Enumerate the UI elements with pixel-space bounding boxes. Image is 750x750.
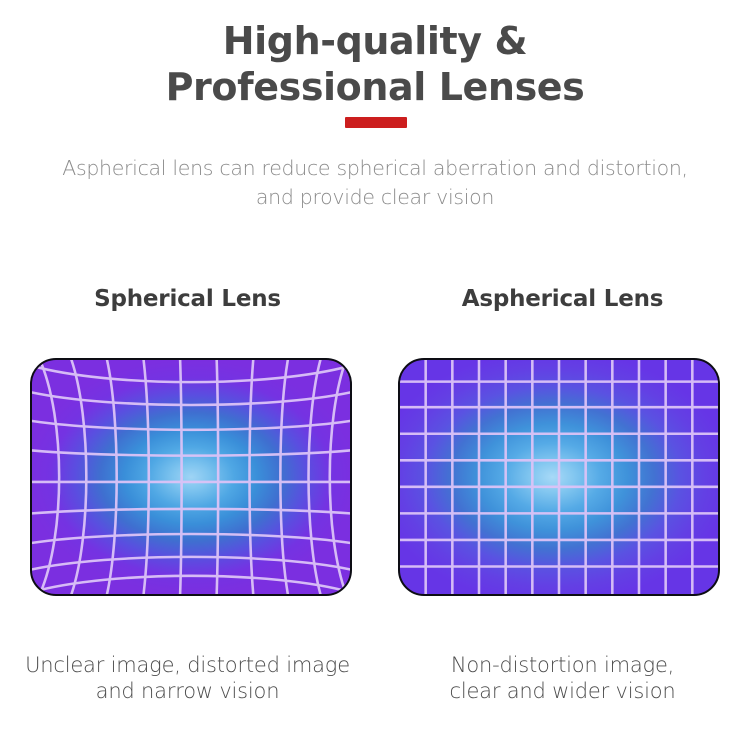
spherical-lens-grid-icon [32, 360, 350, 594]
spherical-lens-image [30, 358, 352, 596]
page-title-line-2: Professional Lenses [0, 64, 750, 110]
aspherical-lens-image [398, 358, 720, 596]
caption-spherical-line-1: Unclear image, distorted image [0, 652, 375, 678]
page-subtitle-line-1: Aspherical lens can reduce spherical abe… [0, 154, 750, 183]
caption-spherical-line-2: and narrow vision [0, 678, 375, 704]
caption-spherical-lens: Unclear image, distorted image and narro… [0, 652, 375, 705]
page-subtitle-line-2: and provide clear vision [0, 183, 750, 212]
caption-aspherical-lens: Non-distortion image, clear and wider vi… [375, 652, 750, 705]
caption-aspherical-line-1: Non-distortion image, [375, 652, 750, 678]
page-subtitle: Aspherical lens can reduce spherical abe… [0, 154, 750, 212]
page-title-line-1: High-quality & [0, 18, 750, 64]
caption-aspherical-line-2: clear and wider vision [375, 678, 750, 704]
comparison-column-aspherical: Aspherical Lens [375, 286, 750, 716]
lens-comparison: Spherical Lens [0, 286, 750, 716]
heading-aspherical-lens: Aspherical Lens [375, 286, 750, 312]
page-title: High-quality & Professional Lenses [0, 18, 750, 111]
promo-page: High-quality & Professional Lenses Asphe… [0, 0, 750, 750]
title-accent-rule [345, 117, 407, 128]
aspherical-lens-grid-icon [400, 360, 718, 594]
comparison-column-spherical: Spherical Lens [0, 286, 375, 716]
heading-spherical-lens: Spherical Lens [0, 286, 375, 312]
